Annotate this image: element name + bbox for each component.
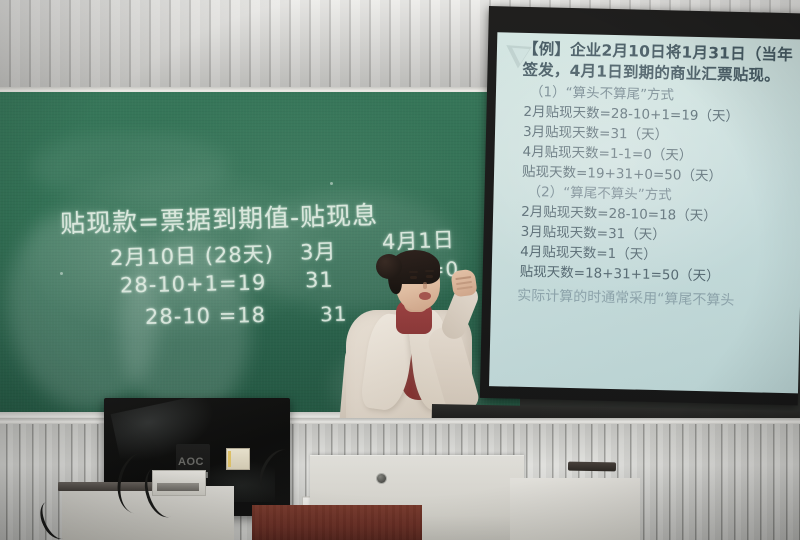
slide-section-two-heading: （2）“算尾不算头”方式 — [527, 185, 800, 207]
projection-screen: 【例】企业2月10日将1月31日（当年 签发，4月1日到期的商业汇票贴现。 （1… — [489, 32, 800, 393]
mouth — [419, 292, 431, 300]
slide-item: 2月贴现天数=28-10=18（天） — [521, 205, 800, 227]
chalk-speck — [330, 182, 333, 185]
slide-item: 3月贴现天数=31（天） — [520, 225, 799, 247]
chalk-smudge — [30, 132, 230, 202]
podium-knob[interactable] — [376, 473, 387, 484]
classroom-scene: 贴现款=票据到期值-贴现息 2月10日 (28天) 28-10+1=19 28-… — [0, 0, 800, 540]
slide-item: 4月贴现天数=1-1=0（天） — [522, 145, 800, 167]
wood-grain — [252, 505, 422, 540]
projection-screen-assembly: 【例】企业2月10日将1月31日（当年 签发，4月1日到期的商业汇票贴现。 （1… — [480, 6, 800, 405]
eyebrow-right — [425, 270, 434, 272]
board-col-mid-2: 31 — [305, 268, 334, 293]
board-line-3: 28-10 =18 — [145, 303, 266, 329]
hair-bun — [376, 254, 402, 279]
eye-left — [410, 276, 417, 279]
desk-object[interactable] — [568, 462, 616, 472]
side-desk — [510, 478, 640, 540]
slide-content: 【例】企业2月10日将1月31日（当年 签发，4月1日到期的商业汇票贴现。 （1… — [517, 41, 800, 310]
monitor-brand-logo: AOC — [178, 456, 210, 468]
board-col-mid-1: 3月 — [300, 236, 337, 267]
slide-item: 贴现天数=18+31+1=50（天） — [520, 265, 799, 287]
slide-title-line-2: 签发，4月1日到期的商业汇票贴现。 — [522, 62, 800, 86]
slide-item: 贴现天数=19+31+0=50（天） — [522, 165, 800, 187]
raised-fist — [450, 268, 477, 297]
slide-item: 2月贴现天数=28-10+1=19（天） — [523, 104, 800, 126]
board-line-2: 28-10+1=19 — [120, 270, 267, 297]
monitor-asset-label — [226, 448, 250, 470]
nose — [423, 282, 427, 289]
chalk-speck — [60, 272, 63, 275]
eye-right — [426, 275, 433, 278]
board-line-1: 2月10日 (28天) — [110, 238, 275, 272]
wooden-podium-panel — [252, 505, 422, 540]
eyebrow-left — [409, 271, 418, 273]
slide-item: 3月贴现天数=31（天） — [523, 124, 800, 146]
slide-item: 4月贴现天数=1（天） — [520, 245, 799, 267]
slide-section-one-heading: （1）“算头不算尾”方式 — [530, 85, 800, 107]
slide-footer-note: 实际计算的时通常采用“算尾不算头 — [517, 288, 798, 311]
knuckles — [455, 276, 471, 280]
